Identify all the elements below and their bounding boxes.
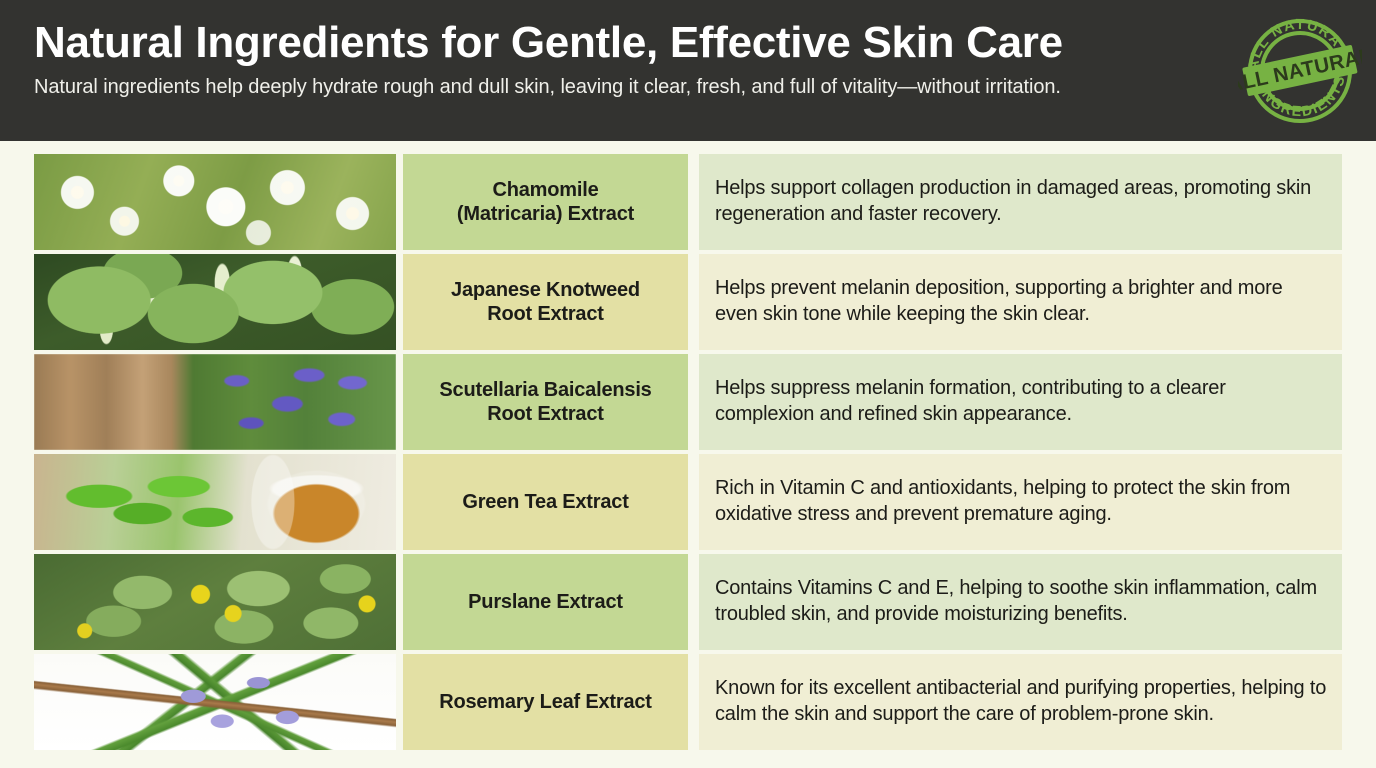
scutellaria-baicalensis-image bbox=[34, 354, 396, 450]
rosemary-photo bbox=[34, 654, 396, 750]
rosemary-image bbox=[34, 654, 396, 750]
ingredient-description: Helps suppress melanin formation, contri… bbox=[699, 354, 1342, 450]
ingredient-name: Rosemary Leaf Extract bbox=[403, 654, 688, 750]
japanese-knotweed-image bbox=[34, 254, 396, 350]
ingredients-table: Chamomile(Matricaria) Extract Helps supp… bbox=[0, 141, 1376, 750]
stamp-icon: ALL NATURAL INGREDIENTS ALL NATURAL bbox=[1238, 9, 1362, 133]
table-row: Chamomile(Matricaria) Extract Helps supp… bbox=[34, 154, 1342, 250]
japanese-knotweed-photo bbox=[34, 254, 396, 350]
green-tea-image bbox=[34, 454, 396, 550]
ingredient-name: Japanese KnotweedRoot Extract bbox=[403, 254, 688, 350]
chamomile-flowers-photo bbox=[34, 154, 396, 250]
table-row: Purslane Extract Contains Vitamins C and… bbox=[34, 554, 1342, 650]
chamomile-flowers-image bbox=[34, 154, 396, 250]
page-header: Natural Ingredients for Gentle, Effectiv… bbox=[0, 0, 1376, 141]
ingredient-description: Helps support collagen production in dam… bbox=[699, 154, 1342, 250]
all-natural-stamp-badge: ALL NATURAL INGREDIENTS ALL NATURAL bbox=[1238, 9, 1362, 133]
ingredient-name: Chamomile(Matricaria) Extract bbox=[403, 154, 688, 250]
ingredient-description: Contains Vitamins C and E, helping to so… bbox=[699, 554, 1342, 650]
purslane-image bbox=[34, 554, 396, 650]
green-tea-photo bbox=[34, 454, 396, 550]
table-row: Scutellaria BaicalensisRoot Extract Help… bbox=[34, 354, 1342, 450]
scutellaria-baicalensis-photo bbox=[34, 354, 396, 450]
ingredient-description: Helps prevent melanin deposition, suppor… bbox=[699, 254, 1342, 350]
ingredient-description: Known for its excellent antibacterial an… bbox=[699, 654, 1342, 750]
ingredient-name: Green Tea Extract bbox=[403, 454, 688, 550]
page-subtitle: Natural ingredients help deeply hydrate … bbox=[34, 76, 1346, 99]
table-row: Green Tea Extract Rich in Vitamin C and … bbox=[34, 454, 1342, 550]
page-title: Natural Ingredients for Gentle, Effectiv… bbox=[34, 18, 1346, 67]
table-row: Japanese KnotweedRoot Extract Helps prev… bbox=[34, 254, 1342, 350]
ingredient-description: Rich in Vitamin C and antioxidants, help… bbox=[699, 454, 1342, 550]
purslane-photo bbox=[34, 554, 396, 650]
table-row: Rosemary Leaf Extract Known for its exce… bbox=[34, 654, 1342, 750]
ingredient-name: Scutellaria BaicalensisRoot Extract bbox=[403, 354, 688, 450]
ingredient-name: Purslane Extract bbox=[403, 554, 688, 650]
